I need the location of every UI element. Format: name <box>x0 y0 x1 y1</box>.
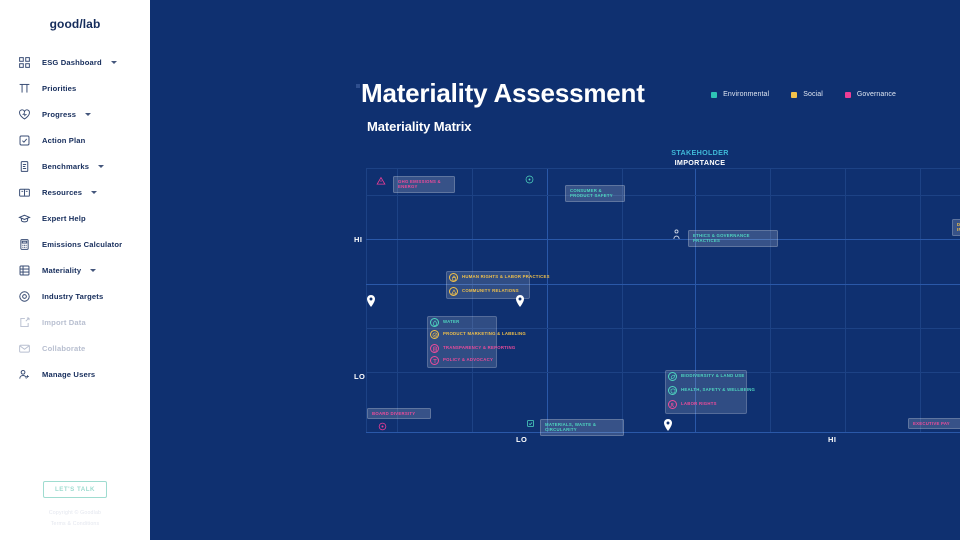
scale-icon <box>430 356 439 365</box>
legend-swatch-icon <box>791 92 797 98</box>
grid-line-h <box>366 239 960 240</box>
sidebar-item-action-plan[interactable]: Action Plan <box>0 127 150 153</box>
point-label-materials-waste-circularity[interactable]: MATERIALS, WASTE & CIRCULARITY <box>540 419 624 436</box>
sidebar-item-materiality[interactable]: Materiality <box>0 257 150 283</box>
sidebar-item-label: Progress <box>42 110 76 119</box>
grid-line-h <box>366 168 960 169</box>
point-label-community-relations: COMMUNITY RELATIONS <box>462 287 519 293</box>
grid-line-v <box>397 168 398 433</box>
point-label-transparency-reporting: TRANSPARENCY & REPORTING <box>443 344 515 350</box>
alert-icon <box>449 287 458 296</box>
point-label-board-diversity[interactable]: BOARD DIVERSITY <box>367 408 431 419</box>
water-drop-icon <box>430 318 439 327</box>
warning-triangle-icon[interactable] <box>376 176 386 186</box>
sidebar-item-esg-dashboard[interactable]: ESG Dashboard <box>0 49 150 75</box>
sidebar-item-expert-help[interactable]: Expert Help <box>0 205 150 231</box>
terms-link[interactable]: Terms & Conditions <box>51 521 100 527</box>
legend-item-governance[interactable]: Governance <box>845 91 896 98</box>
sidebar-item-label: ESG Dashboard <box>42 58 102 67</box>
lets-talk-button[interactable]: LET'S TALK <box>43 481 107 498</box>
chevron-down-icon[interactable] <box>91 191 97 194</box>
bar-panel-icon <box>17 159 31 173</box>
grid-line-v <box>472 168 473 433</box>
chevron-down-icon[interactable] <box>85 113 91 116</box>
point-community-relations[interactable]: COMMUNITY RELATIONS <box>449 287 519 296</box>
sidebar-item-label: Resources <box>42 188 82 197</box>
user-add-icon <box>17 367 31 381</box>
recycle-icon[interactable] <box>526 419 536 429</box>
point-health-safety-wellbeing[interactable]: HEALTH, SAFETY & WELLBEING <box>668 386 755 395</box>
sidebar-item-label: Manage Users <box>42 370 95 379</box>
person-marker-icon[interactable] <box>672 229 682 239</box>
tag-icon <box>430 330 439 339</box>
doc-icon <box>430 344 439 353</box>
point-label-consumer-product-safety[interactable]: CONSUMER & PRODUCT SAFETY <box>565 185 625 202</box>
point-human-rights[interactable]: HUMAN RIGHTS & LABOR PRACTICES <box>449 273 550 282</box>
grid-line-v <box>845 168 846 433</box>
point-label-human-rights: HUMAN RIGHTS & LABOR PRACTICES <box>462 273 550 279</box>
sidebar-item-label: Benchmarks <box>42 162 89 171</box>
location-pin-icon[interactable] <box>515 295 525 305</box>
page-title: Materiality Assessment <box>361 78 645 109</box>
sidebar-item-label: Import Data <box>42 318 86 327</box>
y-tick-hi: HI <box>354 235 362 244</box>
legend-swatch-icon <box>845 92 851 98</box>
sidebar-item-emissions-calculator[interactable]: Emissions Calculator <box>0 231 150 257</box>
grid-line-h <box>366 432 960 433</box>
climate-risk-marker-icon[interactable] <box>525 175 535 185</box>
sidebar-item-progress[interactable]: Progress <box>0 101 150 127</box>
sidebar-item-collaborate[interactable]: Collaborate <box>0 335 150 361</box>
sidebar-item-import-data[interactable]: Import Data <box>0 309 150 335</box>
x-tick-lo: LO <box>516 435 527 444</box>
sidebar: good/lab ESG Dashboard Priorities <box>0 0 150 540</box>
grid-line-v <box>547 168 548 433</box>
calculator-icon <box>17 237 31 251</box>
chevron-down-icon[interactable] <box>90 269 96 272</box>
sidebar-item-priorities[interactable]: Priorities <box>0 75 150 101</box>
chevron-down-icon[interactable] <box>111 61 117 64</box>
book-icon <box>17 185 31 199</box>
copyright-text: Copyright © Goodlab <box>49 510 101 516</box>
grid-line-h <box>366 195 960 196</box>
grid-line-h <box>366 372 960 373</box>
point-label-policy-advocacy: POLICY & ADVOCACY <box>443 356 493 362</box>
sidebar-item-label: Emissions Calculator <box>42 240 122 249</box>
lock-icon <box>449 273 458 282</box>
point-label-executive-pay[interactable]: EXECUTIVE PAY <box>908 418 960 429</box>
sidebar-item-resources[interactable]: Resources <box>0 179 150 205</box>
brand-logo[interactable]: good/lab <box>0 0 150 40</box>
sidebar-nav: ESG Dashboard Priorities Progress <box>0 49 150 387</box>
target-icon <box>17 289 31 303</box>
grid-line-v <box>920 168 921 433</box>
import-icon <box>17 315 31 329</box>
point-policy-advocacy[interactable]: POLICY & ADVOCACY <box>430 356 493 365</box>
grid-line-v <box>622 168 623 433</box>
point-label-biodiversity-land-use: BIODIVERSITY & LAND USE <box>681 372 744 378</box>
graduation-icon <box>17 211 31 225</box>
legend-label: Environmental <box>723 91 769 98</box>
legend-item-social[interactable]: Social <box>791 91 823 98</box>
point-water[interactable]: WATER <box>430 318 459 327</box>
y-tick-lo: LO <box>354 372 365 381</box>
sidebar-item-industry-targets[interactable]: Industry Targets <box>0 283 150 309</box>
point-label-ethics-governance[interactable]: ETHICS & GOVERNANCE PRACTICES <box>688 230 778 247</box>
main-content: Materiality Assessment Materiality Matri… <box>150 0 960 540</box>
point-label-health-safety-wellbeing: HEALTH, SAFETY & WELLBEING <box>681 386 755 392</box>
sidebar-footer: LET'S TALK Copyright © Goodlab Terms & C… <box>0 481 150 532</box>
title-marker <box>356 84 360 88</box>
shield-icon <box>668 386 677 395</box>
point-label-product-marketing: PRODUCT MARKETING & LABELING <box>443 330 526 336</box>
people-icon <box>668 400 677 409</box>
chevron-down-icon[interactable] <box>98 165 104 168</box>
point-biodiversity-land-use[interactable]: BIODIVERSITY & LAND USE <box>668 372 744 381</box>
legend-label: Social <box>803 91 823 98</box>
materiality-matrix-plot[interactable]: GHG EMISSIONS & ENERGY CONSUMER & PRODUC… <box>366 168 960 433</box>
pink-marker-icon[interactable] <box>378 422 388 432</box>
chart-legend: Environmental Social Governance <box>711 91 896 98</box>
sidebar-item-label: Action Plan <box>42 136 85 145</box>
mail-icon <box>17 341 31 355</box>
page-subtitle: Materiality Matrix <box>367 119 471 134</box>
legend-item-environmental[interactable]: Environmental <box>711 91 769 98</box>
location-pin-icon[interactable] <box>663 419 673 429</box>
grid-line-v <box>770 168 771 433</box>
sidebar-item-label: Industry Targets <box>42 292 103 301</box>
point-label-diversity-equity-inclusion[interactable]: DIVERSITY, EQUITY & INCLUSION <box>952 219 960 236</box>
table-icon <box>17 263 31 277</box>
x-axis-caption-line-2: IMPORTANCE <box>650 158 750 168</box>
point-label-labor-rights: LABOR RIGHTS <box>681 400 717 406</box>
grid-icon <box>17 55 31 69</box>
sidebar-item-label: Collaborate <box>42 344 85 353</box>
columns-icon <box>17 81 31 95</box>
point-product-marketing[interactable]: PRODUCT MARKETING & LABELING <box>430 330 526 339</box>
x-tick-hi: HI <box>828 435 836 444</box>
point-transparency-reporting[interactable]: TRANSPARENCY & REPORTING <box>430 344 515 353</box>
sidebar-item-label: Expert Help <box>42 214 86 223</box>
brand-logo-text: good/lab <box>50 17 101 31</box>
point-label-ghg-emissions[interactable]: GHG EMISSIONS & ENERGY <box>393 176 455 193</box>
leaf-icon <box>668 372 677 381</box>
sidebar-item-manage-users[interactable]: Manage Users <box>0 361 150 387</box>
sidebar-item-benchmarks[interactable]: Benchmarks <box>0 153 150 179</box>
sidebar-item-label: Materiality <box>42 266 81 275</box>
x-axis-caption-line-1: STAKEHOLDER <box>650 148 750 158</box>
x-axis-caption: STAKEHOLDER IMPORTANCE <box>650 148 750 168</box>
check-square-icon <box>17 133 31 147</box>
point-labor-rights[interactable]: LABOR RIGHTS <box>668 400 717 409</box>
legend-swatch-icon <box>711 92 717 98</box>
location-pin-icon[interactable] <box>366 295 376 305</box>
heart-chart-icon <box>17 107 31 121</box>
legend-label: Governance <box>857 91 896 98</box>
point-label-water: WATER <box>443 318 459 324</box>
sidebar-item-label: Priorities <box>42 84 76 93</box>
